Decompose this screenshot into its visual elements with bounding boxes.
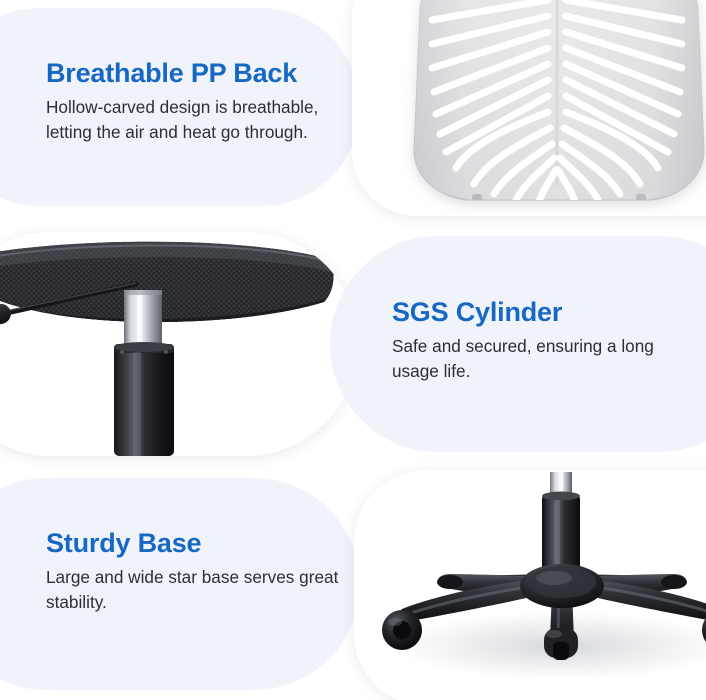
star-base-photo xyxy=(354,470,706,700)
feature-text-breathable-pp-back: Breathable PP Back Hollow-carved design … xyxy=(46,58,346,144)
cylinder-photo xyxy=(0,232,358,456)
pp-back-illustration xyxy=(352,0,706,216)
castor-wheel-rear-left xyxy=(437,575,463,589)
star-base-photo-card xyxy=(354,470,706,700)
cylinder-photo-card xyxy=(0,232,358,456)
infographic-canvas: Breathable PP Back Hollow-carved design … xyxy=(0,0,706,700)
feature-headline-2: SGS Cylinder xyxy=(392,297,692,327)
star-base-illustration xyxy=(354,470,706,700)
feature-body-1: Hollow-carved design is breathable, lett… xyxy=(46,95,346,144)
pp-back-photo-card xyxy=(352,0,706,216)
feature-body-2: Safe and secured, ensuring a long usage … xyxy=(392,334,692,383)
feature-text-sturdy-base: Sturdy Base Large and wide star base ser… xyxy=(46,528,356,614)
feature-headline-1: Breathable PP Back xyxy=(46,58,346,88)
cylinder-illustration xyxy=(0,232,358,456)
feature-text-sgs-cylinder: SGS Cylinder Safe and secured, ensuring … xyxy=(392,297,692,383)
castor-wheel-rear-right xyxy=(661,575,687,589)
feature-body-3: Large and wide star base serves great st… xyxy=(46,565,356,614)
castor-wheel-left xyxy=(382,610,422,650)
pp-back-photo xyxy=(352,0,706,216)
castor-wheel-center xyxy=(544,628,578,660)
feature-headline-3: Sturdy Base xyxy=(46,528,356,558)
